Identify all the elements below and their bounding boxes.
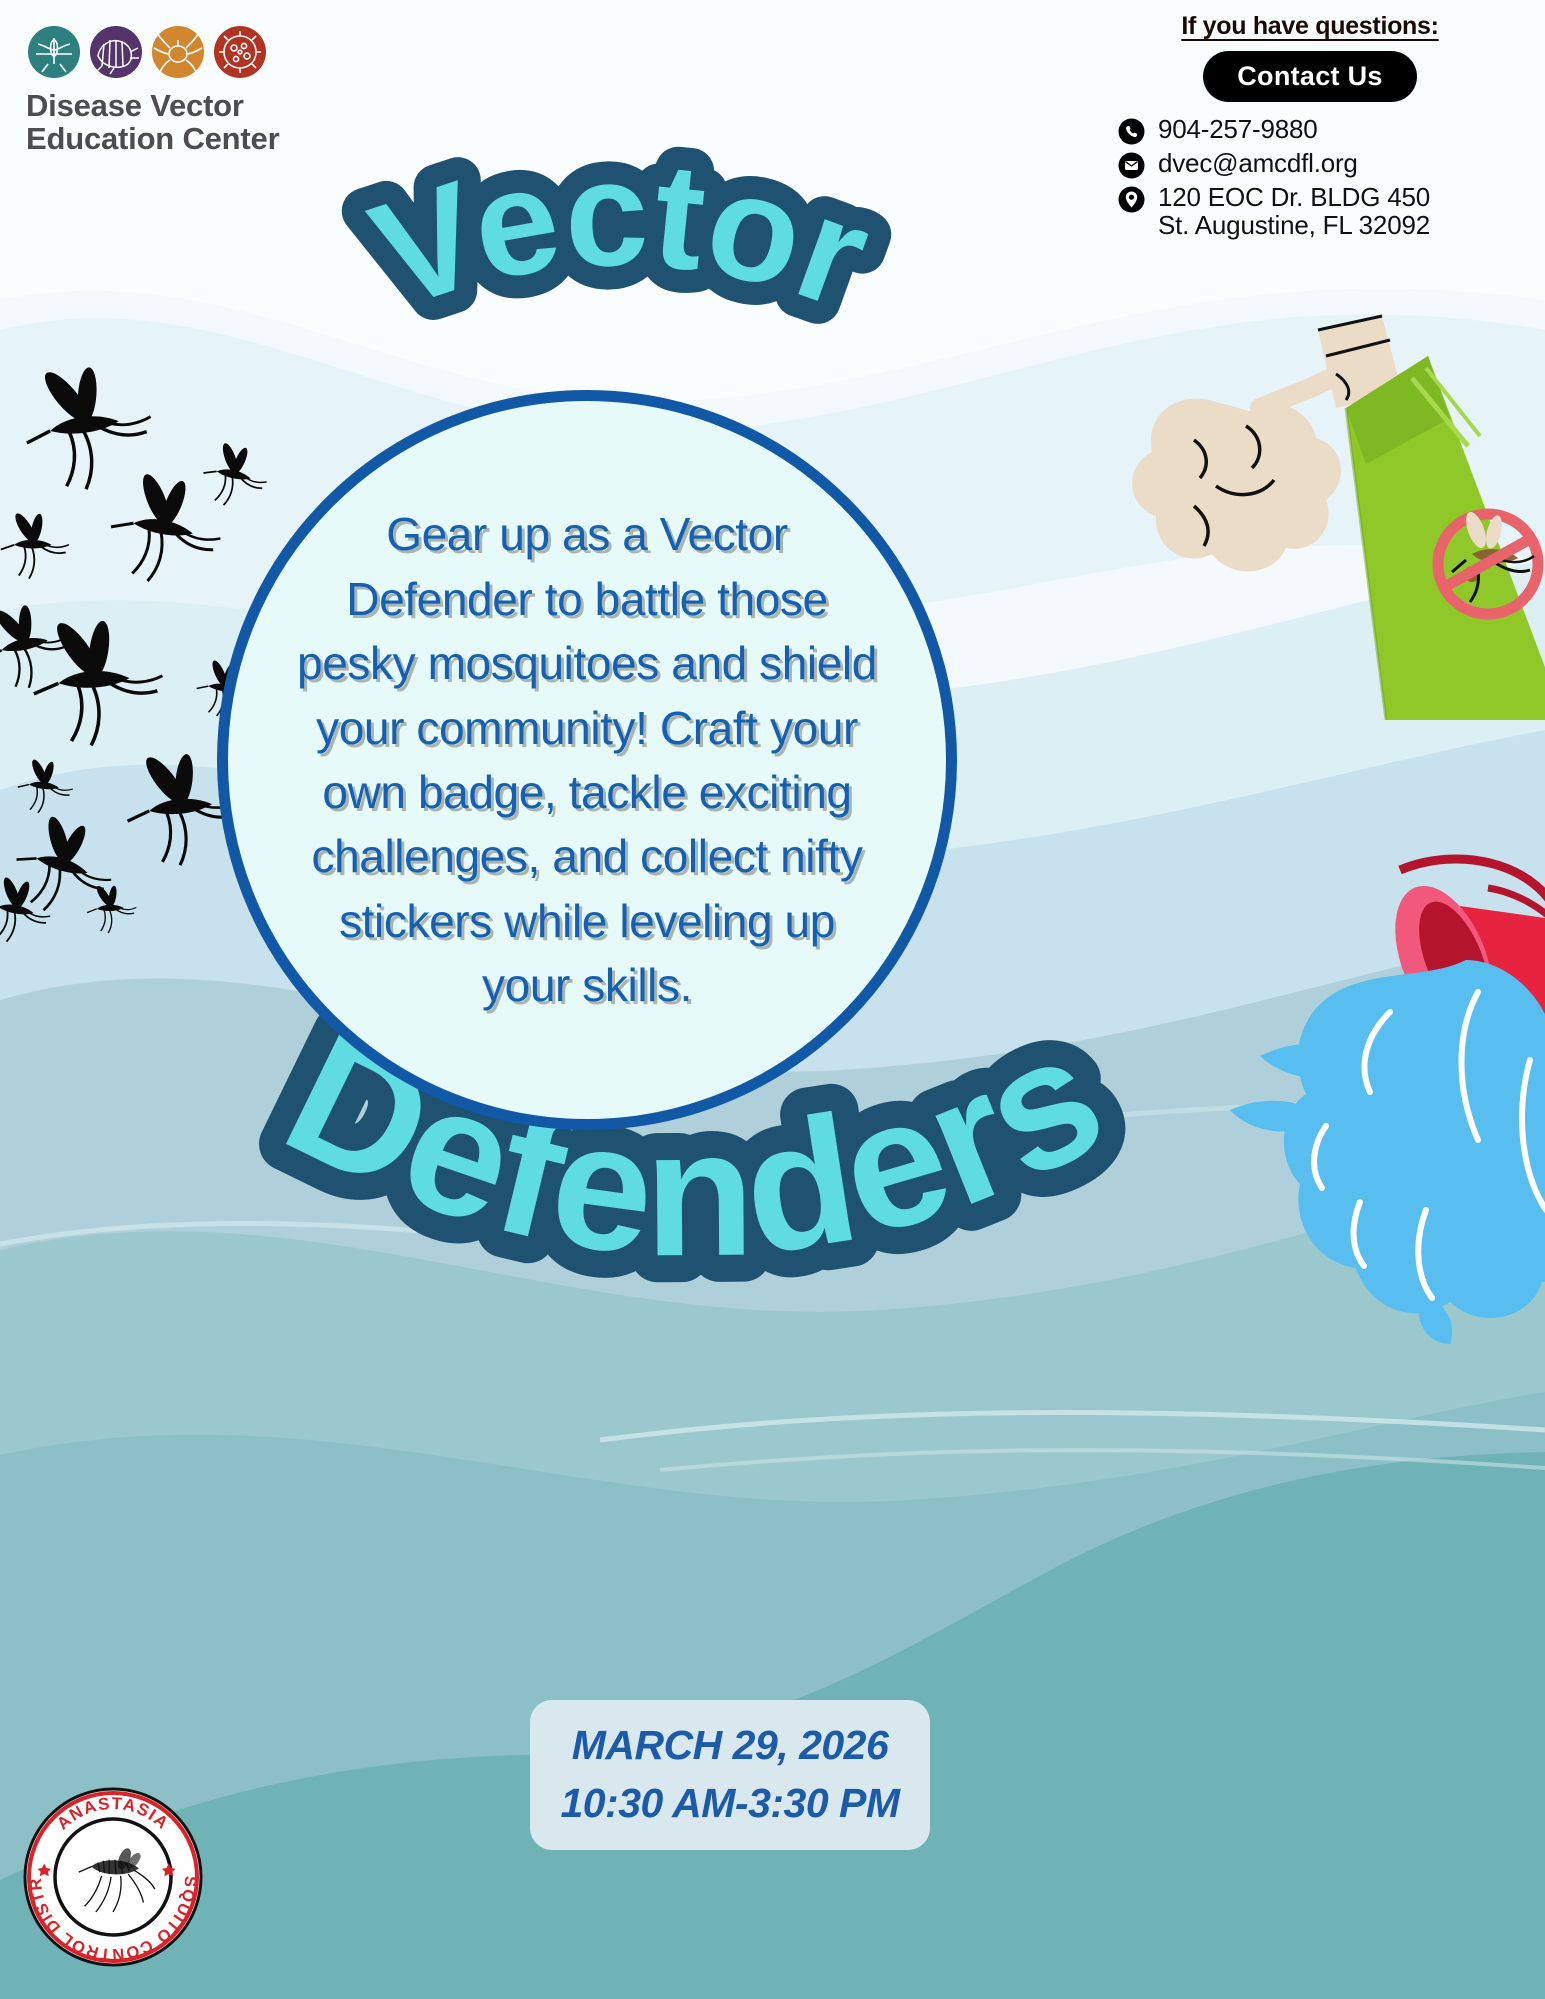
body-line: challenges, and collect nifty [312, 830, 863, 882]
dvec-name-line1: Disease Vector [26, 89, 342, 122]
dvec-name-line2: Education Center [26, 122, 342, 155]
questions-heading: If you have questions: [1095, 12, 1525, 41]
dvec-logo-icons [28, 26, 342, 78]
flea-icon [90, 26, 142, 78]
body-line: pesky mosquitoes and shield [297, 637, 877, 689]
event-date: MARCH 29, 2026 [540, 1716, 920, 1774]
body-line: own badge, tackle exciting [322, 766, 851, 818]
address-line2: St. Augustine, FL 32092 [1158, 210, 1430, 240]
address-line1: 120 EOC Dr. BLDG 450 [1158, 182, 1430, 212]
body-line: Defender to battle those [346, 573, 827, 625]
body-line: your community! Craft your [316, 702, 858, 754]
event-datetime-box: MARCH 29, 2026 10:30 AM-3:30 PM [530, 1700, 930, 1850]
body-text: Gear up as a Vector Defender to battle t… [267, 502, 907, 1017]
address-lines: 120 EOC Dr. BLDG 450 St. Augustine, FL 3… [1158, 183, 1430, 239]
phone-icon [1117, 117, 1146, 146]
virus-icon [214, 26, 266, 78]
contact-row-address[interactable]: 120 EOC Dr. BLDG 450 St. Augustine, FL 3… [1117, 183, 1525, 239]
dvec-logo-name: Disease Vector Education Center [26, 89, 342, 156]
contact-row-phone[interactable]: 904-257-9880 [1117, 115, 1525, 146]
body-circle: Gear up as a Vector Defender to battle t… [217, 390, 957, 1130]
flyer-page: Disease Vector Education Center If you h… [0, 0, 1545, 1999]
tick-icon [152, 26, 204, 78]
contact-us-button[interactable]: Contact Us [1203, 51, 1417, 102]
body-line: Gear up as a Vector [386, 508, 788, 560]
contact-block: If you have questions: Contact Us 904-25… [1095, 12, 1525, 242]
contact-row-email[interactable]: dvec@amcdfl.org [1117, 149, 1525, 180]
body-line: your skills. [482, 959, 692, 1011]
body-line: stickers while leveling up [339, 895, 835, 947]
amcd-seal: ANASTASIA MOSQUITO CONTROL DISTRICT [18, 1782, 208, 1972]
email-address: dvec@amcdfl.org [1158, 149, 1358, 177]
dvec-logo: Disease Vector Education Center [22, 26, 342, 156]
email-icon [1117, 151, 1146, 180]
phone-number: 904-257-9880 [1158, 115, 1318, 143]
event-time: 10:30 AM-3:30 PM [540, 1774, 920, 1832]
mosquito-icon [28, 26, 80, 78]
location-pin-icon [1117, 185, 1146, 214]
